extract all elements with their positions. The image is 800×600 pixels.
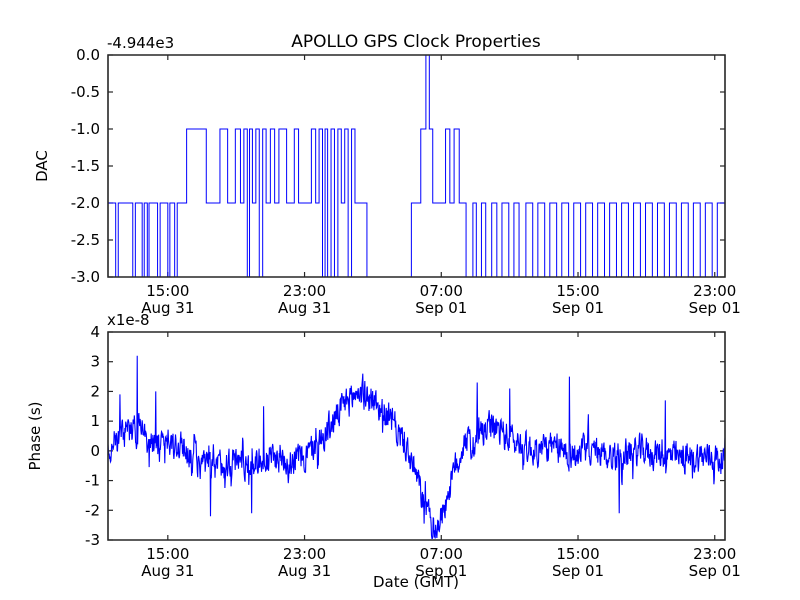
y-tick-label: -2.0 (71, 194, 100, 212)
x-tick-label-date: Aug 31 (278, 299, 331, 317)
y-tick-label: -2 (85, 501, 100, 519)
y-tick-label: 0 (90, 442, 100, 460)
x-tick-label-time: 23:00 (283, 545, 326, 563)
y-tick-label: -1 (85, 472, 100, 490)
y-tick-label: 4 (90, 323, 100, 341)
x-tick-label-date: Aug 31 (141, 562, 194, 580)
figure-canvas: APOLLO GPS Clock Properties -4.944e3 0.0… (0, 0, 800, 600)
x-tick-label-time: 15:00 (146, 282, 189, 300)
phase-y-axis-label: Phase (s) (26, 401, 44, 470)
y-tick-label: 2 (90, 382, 100, 400)
x-tick-label-date: Sep 01 (552, 299, 604, 317)
figure-background (0, 0, 800, 600)
y-tick-label: 0.0 (76, 46, 100, 64)
x-tick-label-time: 23:00 (693, 545, 736, 563)
y-tick-label: 1 (90, 412, 100, 430)
x-tick-label-date: Aug 31 (278, 562, 331, 580)
y-tick-label: -1.5 (71, 157, 100, 175)
y-tick-label: -2.5 (71, 231, 100, 249)
page-title: APOLLO GPS Clock Properties (291, 32, 541, 52)
x-tick-label-time: 15:00 (556, 545, 599, 563)
x-tick-label-time: 07:00 (420, 282, 463, 300)
x-tick-label-time: 15:00 (146, 545, 189, 563)
y-tick-label: -3.0 (71, 268, 100, 286)
x-tick-label-date: Sep 01 (415, 299, 467, 317)
phase-x-axis-label: Date (GMT) (373, 573, 459, 591)
x-tick-label-date: Sep 01 (552, 562, 604, 580)
y-tick-label: -3 (85, 531, 100, 549)
x-tick-label-date: Sep 01 (689, 299, 741, 317)
x-tick-label-date: Sep 01 (689, 562, 741, 580)
x-tick-label-time: 23:00 (283, 282, 326, 300)
x-tick-label-time: 07:00 (420, 545, 463, 563)
x-tick-label-time: 15:00 (556, 282, 599, 300)
x-tick-label-time: 23:00 (693, 282, 736, 300)
matplotlib-figure: APOLLO GPS Clock Properties -4.944e3 0.0… (0, 0, 800, 600)
y-tick-label: -0.5 (71, 83, 100, 101)
dac-y-axis-label: DAC (33, 150, 51, 182)
dac-offset-label: -4.944e3 (107, 34, 174, 52)
y-tick-label: -1.0 (71, 120, 100, 138)
phase-offset-label: x1e-8 (107, 311, 150, 329)
y-tick-label: 3 (90, 353, 100, 371)
